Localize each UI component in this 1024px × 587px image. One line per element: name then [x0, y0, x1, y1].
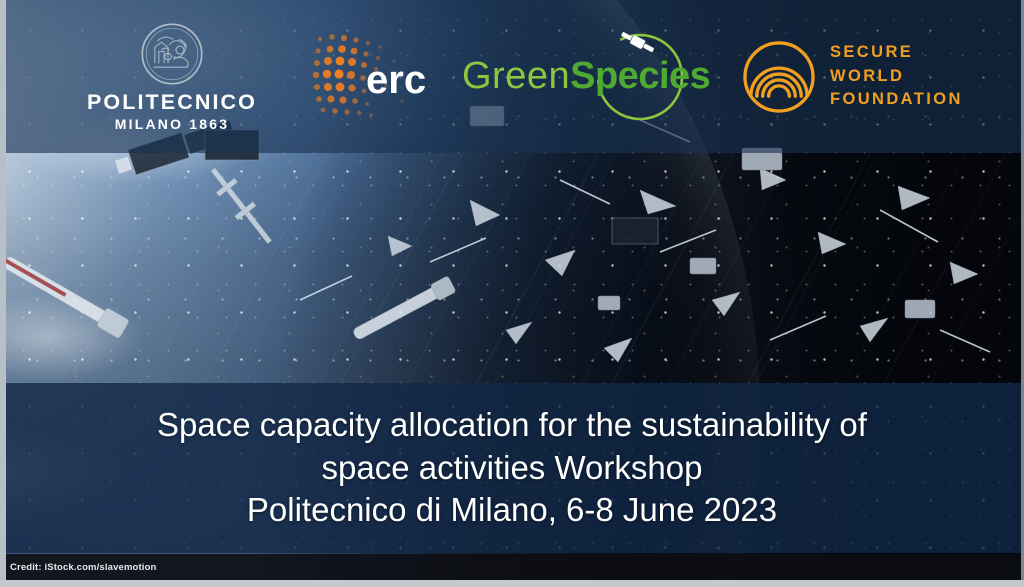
logo-secure-world-foundation: SECURE WORLD FOUNDATION — [742, 40, 963, 114]
swf-line-3: FOUNDATION — [830, 88, 963, 111]
logo-green-species: GreenSpecies — [462, 29, 712, 125]
title-line-2: space activities Workshop — [322, 447, 703, 490]
logo-erc: erc — [310, 31, 428, 123]
swf-line-1: SECURE — [830, 41, 963, 64]
frame-bottom-edge — [0, 580, 1024, 587]
green-word: Green — [462, 55, 570, 97]
swf-wordmark: SECURE WORLD FOUNDATION — [830, 41, 963, 111]
workshop-banner: POLITECNICO MILANO 1863 — [0, 0, 1024, 587]
frame-left-edge — [0, 0, 6, 587]
photo-credit-strip: Credit: iStock.com/slavemotion — [0, 554, 1024, 580]
politecnico-subtitle: MILANO 1863 — [115, 116, 229, 132]
workshop-title-band: Space capacity allocation for the sustai… — [0, 383, 1024, 553]
title-line-1: Space capacity allocation for the sustai… — [157, 404, 867, 447]
species-word: Species — [570, 55, 710, 97]
credit-text: Credit: iStock.com/slavemotion — [0, 562, 157, 573]
politecnico-wordmark: POLITECNICO — [87, 91, 257, 114]
politecnico-seal-icon — [139, 21, 205, 87]
logo-politecnico-milano: POLITECNICO MILANO 1863 — [86, 21, 258, 133]
erc-wordmark: erc — [366, 58, 426, 102]
concentric-arcs-globe-icon — [742, 40, 816, 114]
green-species-wordmark: GreenSpecies — [462, 57, 710, 95]
sponsor-logo-header: POLITECNICO MILANO 1863 — [0, 0, 1024, 153]
title-line-3: Politecnico di Milano, 6-8 June 2023 — [247, 489, 777, 532]
swf-line-2: WORLD — [830, 65, 963, 88]
logo-row: POLITECNICO MILANO 1863 — [0, 21, 1024, 133]
erc-halftone-dots-icon: erc — [310, 31, 428, 123]
